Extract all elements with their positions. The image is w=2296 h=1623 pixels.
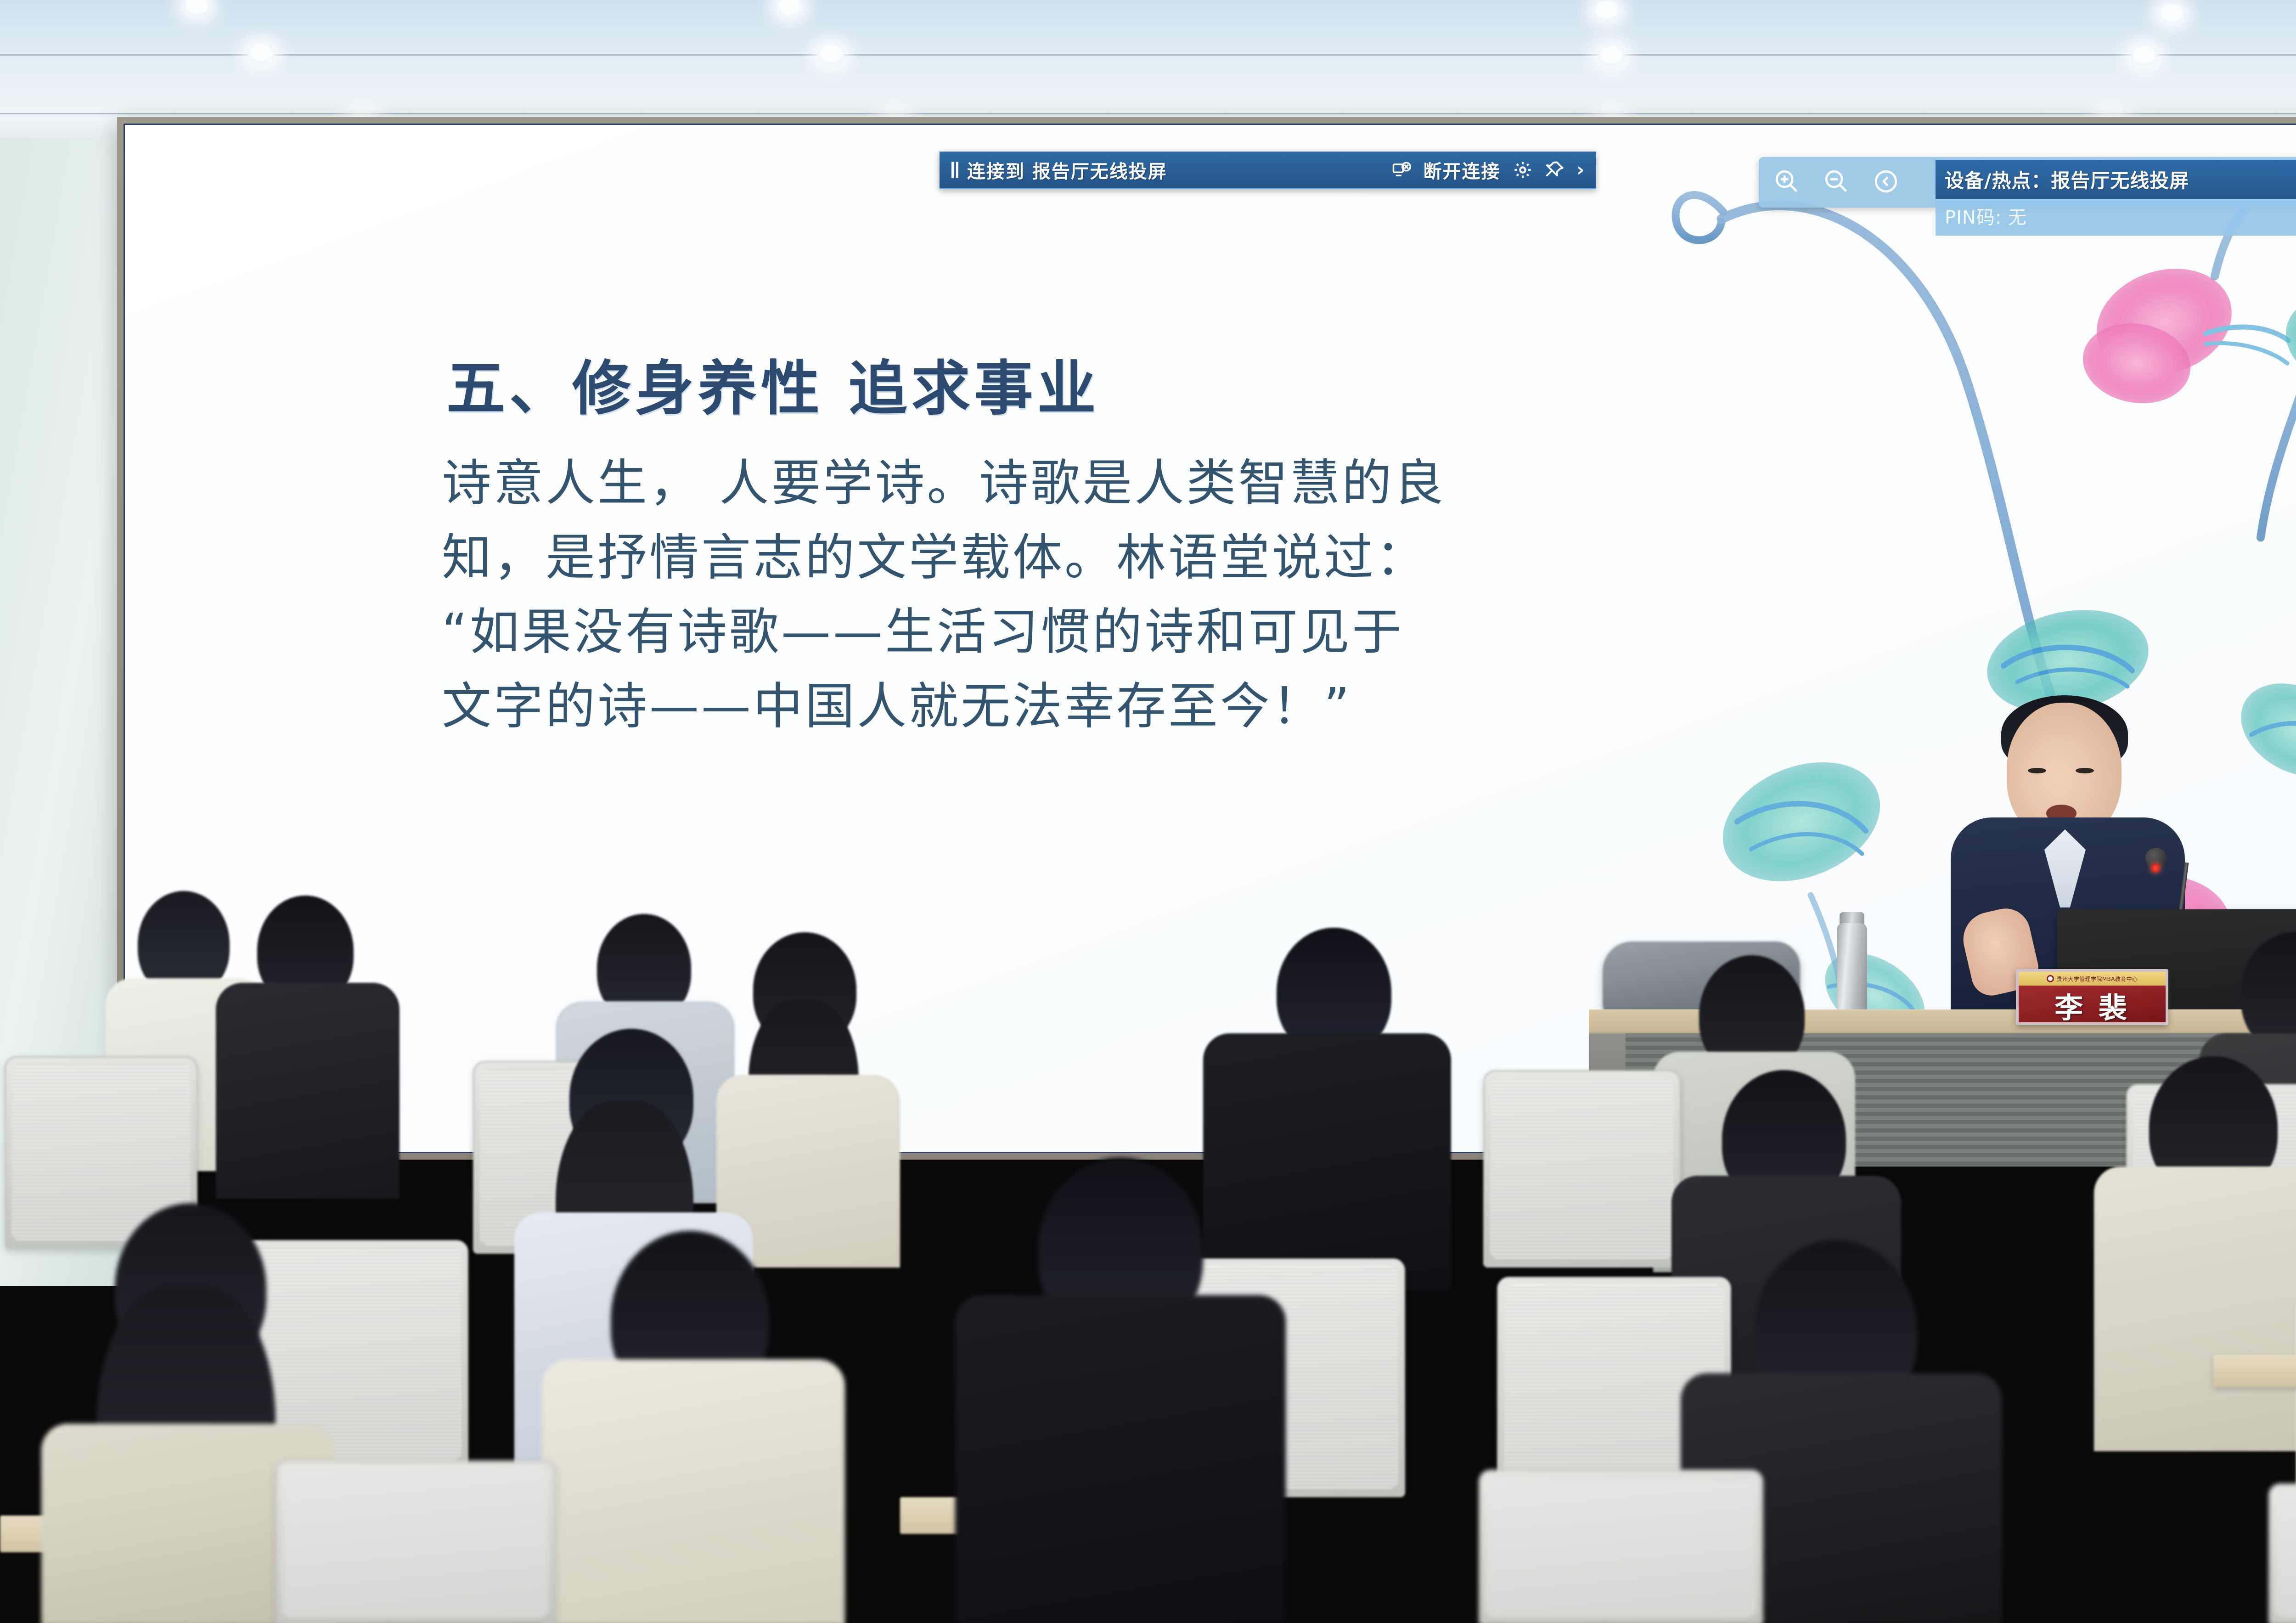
disconnect-label[interactable]: 断开连接 (1424, 157, 1501, 183)
device-info-panel[interactable]: 设备/热点：报告厅无线投屏 ✕ PIN码: 无 (1936, 160, 2296, 236)
audience-body (542, 1359, 845, 1623)
downlight-icon (817, 45, 844, 64)
slide-body: 诗意人生， 人要学诗。诗歌是人类智慧的良 知，是抒情言志的文学载体。林语堂说过：… (442, 446, 1856, 744)
presenter-eye (2076, 768, 2094, 773)
university-seal-icon (2047, 975, 2054, 982)
downlight-icon (2131, 46, 2157, 65)
zoom-in-icon[interactable] (1773, 168, 1800, 197)
ceiling-seam (0, 113, 2296, 114)
device-panel-header: 设备/热点：报告厅无线投屏 ✕ (1936, 160, 2296, 199)
downlight-icon (1598, 46, 1625, 65)
downlight-icon (1593, 1, 1620, 20)
nameplate-org: 贵州大学管理学院MBA教育中心 (2057, 975, 2138, 983)
disconnect-screen-icon[interactable] (1391, 160, 1412, 180)
drag-handle-icon[interactable] (951, 162, 959, 178)
device-pin-line: PIN码: 无 (1936, 199, 2296, 236)
slide-body-line: “如果没有诗歌——生活习惯的诗和可见于 (442, 595, 1856, 670)
gear-icon[interactable] (1513, 160, 1533, 180)
audience-body (2094, 1167, 2296, 1451)
device-panel-title: 设备/热点：报告厅无线投屏 (1945, 165, 2189, 193)
cast-toolbar[interactable]: 连接到 报告厅无线投屏 断开连接 (940, 152, 1596, 189)
chevron-right-icon[interactable]: › (1577, 159, 1584, 180)
audience-chair (2268, 1483, 2296, 1623)
cast-status-label: 连接到 报告厅无线投屏 (967, 157, 1167, 183)
screenshot-stage: 五、修身养性 追求事业 诗意人生， 人要学诗。诗歌是人类智慧的良 知，是抒情言志… (0, 0, 2296, 1623)
pin-icon[interactable] (1545, 160, 1565, 180)
chevron-left-circle-icon[interactable] (1873, 168, 1899, 197)
slide-body-line: 文字的诗——中国人就无法幸存至今！” (442, 670, 1856, 744)
audience-table (2213, 1355, 2296, 1387)
audience-body (216, 983, 400, 1199)
microphone-led-indicator (2151, 863, 2160, 873)
zoom-out-icon[interactable] (1823, 168, 1850, 197)
slide-body-line: 诗意人生， 人要学诗。诗歌是人类智慧的良 (442, 446, 1856, 521)
downlight-icon (248, 44, 275, 63)
presenter-eye (2028, 768, 2046, 773)
audience-chair (276, 1460, 556, 1623)
slide-title: 五、修身养性 追求事业 (446, 341, 1100, 426)
slide-body-line: 知，是抒情言志的文学载体。林语堂说过： (442, 521, 1856, 595)
audience-body (955, 1295, 1286, 1623)
nameplate: 贵州大学管理学院MBA教育中心 李 裴 (2016, 969, 2168, 1025)
audience-chair (1479, 1470, 1763, 1623)
nameplate-header: 贵州大学管理学院MBA教育中心 (2019, 972, 2166, 986)
nameplate-name: 李 裴 (2019, 986, 2166, 1025)
ceiling-seam (0, 54, 2296, 56)
audience-chair (1483, 1070, 1681, 1268)
audience-body (1203, 1033, 1451, 1291)
downlight-icon (2158, 4, 2185, 23)
